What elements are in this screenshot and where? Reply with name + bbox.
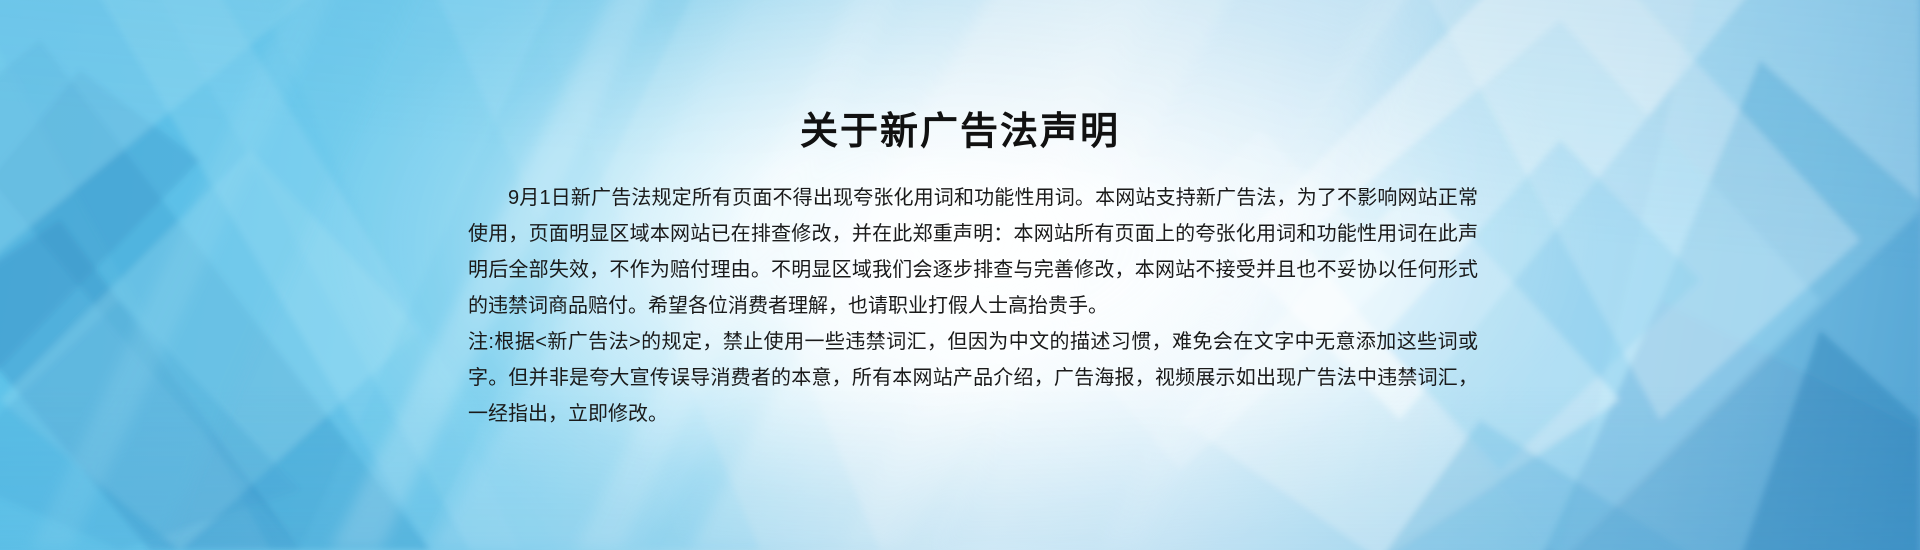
advertising-law-statement-banner: 关于新广告法声明 9月1日新广告法规定所有页面不得出现夸张化用词和功能性用词。本… — [0, 0, 1920, 550]
statement-paragraph-1: 9月1日新广告法规定所有页面不得出现夸张化用词和功能性用词。本网站支持新广告法，… — [468, 180, 1478, 324]
page-title: 关于新广告法声明 — [0, 109, 1920, 155]
statement-paragraph-2: 注:根据<新广告法>的规定，禁止使用一些违禁词汇，但因为中文的描述习惯，难免会在… — [468, 324, 1478, 432]
statement-body: 9月1日新广告法规定所有页面不得出现夸张化用词和功能性用词。本网站支持新广告法，… — [468, 180, 1478, 432]
statement-content: 关于新广告法声明 9月1日新广告法规定所有页面不得出现夸张化用词和功能性用词。本… — [0, 0, 1920, 550]
